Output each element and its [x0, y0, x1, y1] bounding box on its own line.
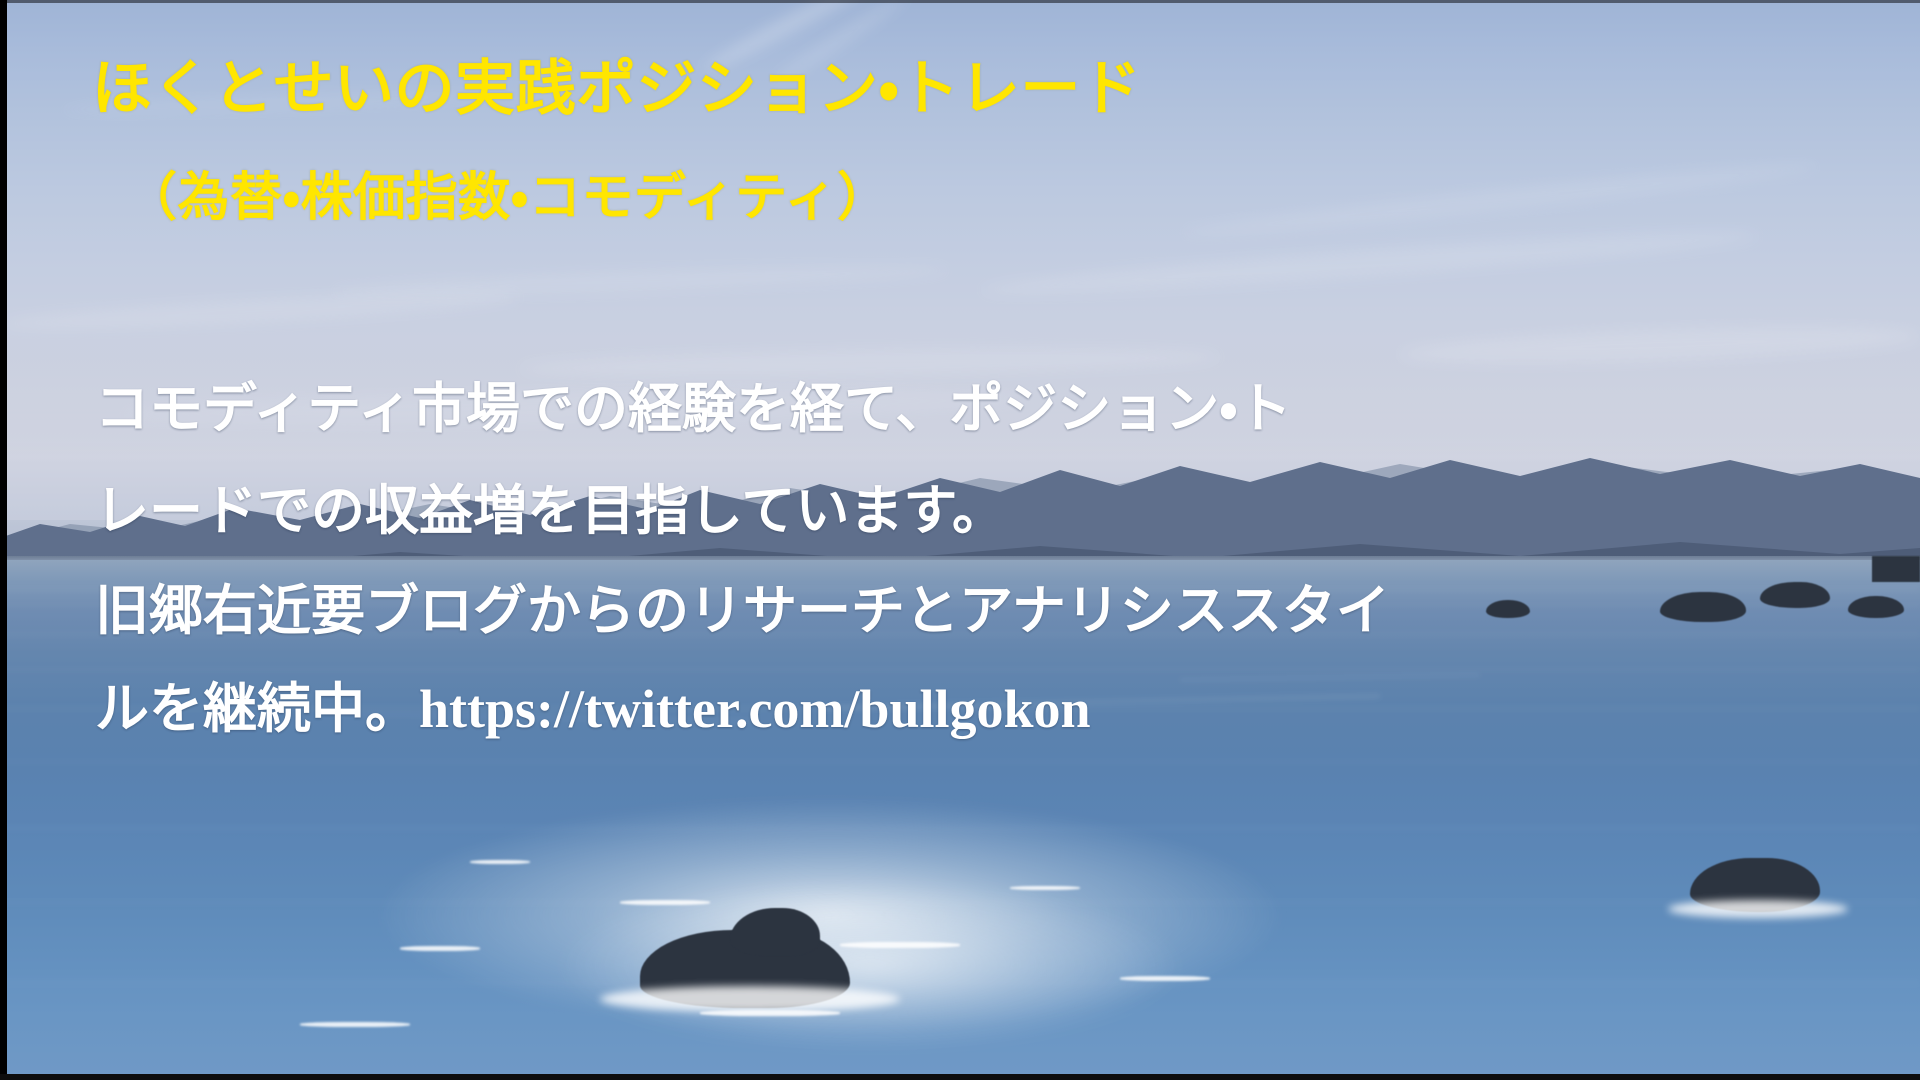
rock-islet — [1760, 582, 1830, 608]
water-swell-line — [0, 900, 1920, 905]
headline-line-1: ほくとせいの実践ポジション・トレード — [92, 55, 1141, 123]
water-swell-line — [0, 668, 1920, 671]
frame-edge-top — [0, 0, 1920, 3]
body-line-1: コモディティ市場での経験を経て、ポジション・ト — [95, 378, 1292, 440]
twitter-profile-url[interactable]: https://twitter.com/bullgokon — [419, 679, 1091, 739]
frame-edge-bottom — [0, 1074, 1920, 1080]
headline-line-2: （為替・株価指数・コモディティ） — [125, 168, 890, 228]
rock-islet — [1486, 600, 1530, 618]
rock-islet — [1872, 556, 1920, 582]
body-line-2: レードでの収益増を目指しています。 — [95, 480, 1006, 542]
rock-islet — [1848, 596, 1904, 618]
water-swell-line — [0, 980, 1920, 986]
water-sparkle — [300, 1022, 410, 1027]
body-line-4-prefix: ルを継続中。 — [95, 679, 419, 739]
water-sparkle — [1120, 976, 1210, 981]
frame-edge-left — [0, 0, 7, 1080]
water-sparkle — [470, 860, 530, 864]
water-sparkle — [620, 900, 710, 905]
rock-foam — [1668, 900, 1848, 918]
body-line-4: ルを継続中。https://twitter.com/bullgokon — [95, 678, 1091, 740]
water-sparkle — [840, 942, 960, 948]
water-swell-line — [0, 826, 1920, 831]
water-swell-line — [0, 760, 1920, 764]
banner-image: ほくとせいの実践ポジション・トレード （為替・株価指数・コモディティ） コモディ… — [0, 0, 1920, 1080]
rock-foam — [600, 986, 900, 1012]
water-sparkle — [1010, 886, 1080, 890]
body-line-3: 旧郷右近要ブログからのリサーチとアナリシススタイ — [95, 580, 1390, 642]
water-sparkle — [400, 946, 480, 951]
rock-islet — [1660, 592, 1746, 622]
